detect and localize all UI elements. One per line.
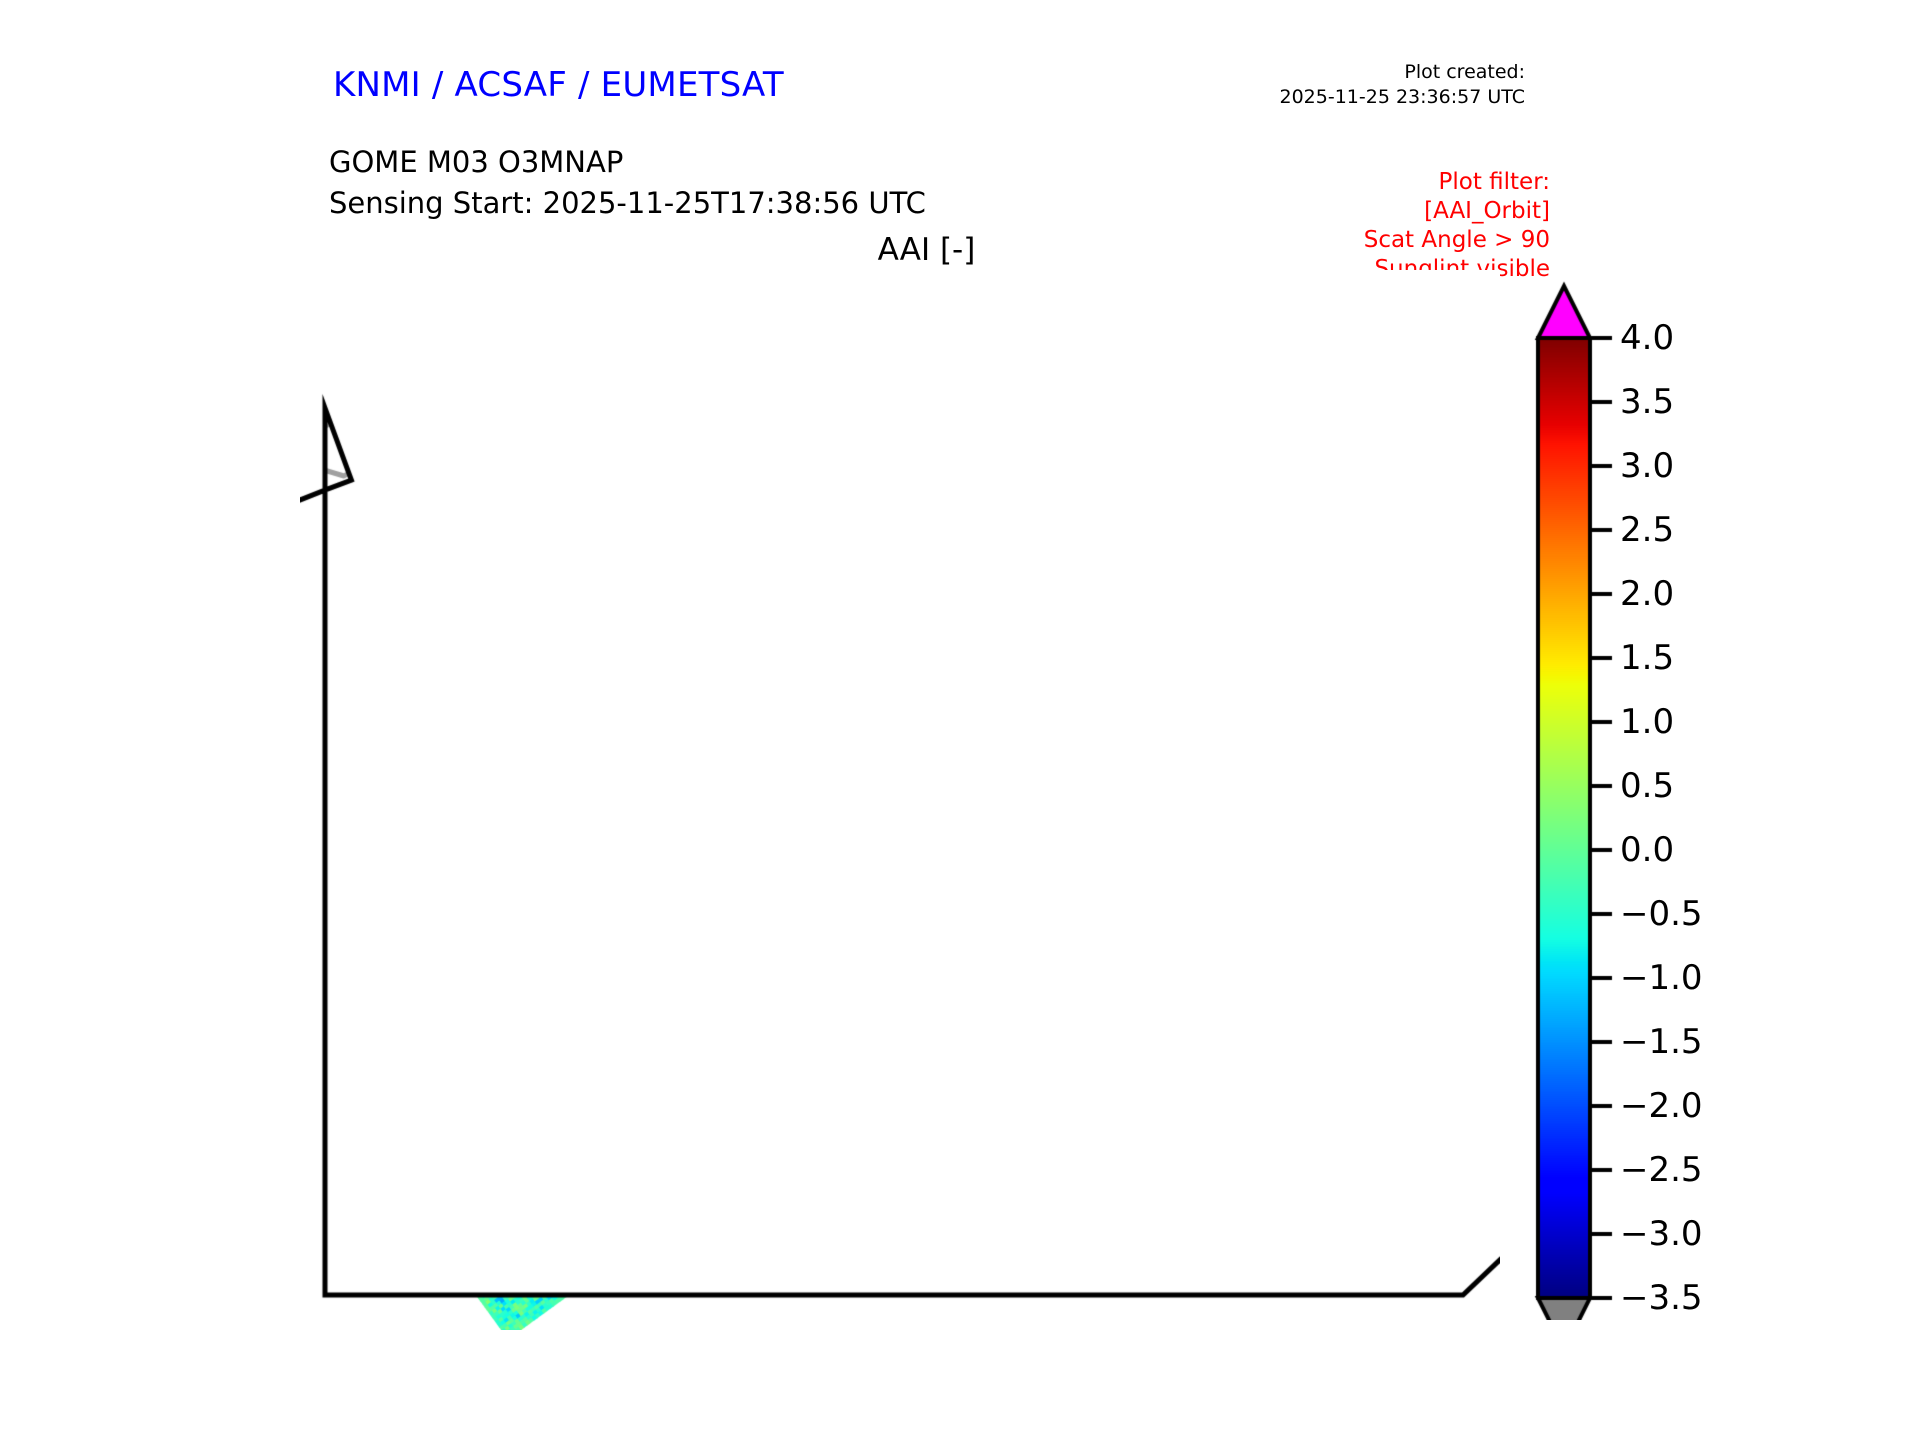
colorbar-tick-label: −2.5: [1620, 1150, 1703, 1190]
colorbar-tick-label: −2.0: [1620, 1086, 1703, 1126]
map-plot-area: [300, 270, 1500, 1330]
colorbar-tick-label: −1.5: [1620, 1022, 1703, 1062]
colorbar-tick-label: −1.0: [1620, 958, 1703, 998]
colorbar-tick-label: −3.0: [1620, 1214, 1703, 1254]
colorbar-tick-label: 3.5: [1620, 382, 1674, 422]
colorbar-tick-label: 1.0: [1620, 702, 1674, 742]
plot-created-block: Plot created: 2025-11-25 23:36:57 UTC: [1280, 60, 1526, 110]
sensing-start-label: Sensing Start: 2025-11-25T17:38:56 UTC: [329, 186, 926, 220]
colorbar-tick-label: −3.5: [1620, 1278, 1703, 1318]
organisation-title: KNMI / ACSAF / EUMETSAT: [333, 65, 784, 105]
colorbar: 4.03.53.02.52.01.51.00.50.0−0.5−1.0−1.5−…: [1530, 280, 1860, 1320]
plot-root: KNMI / ACSAF / EUMETSAT GOME M03 O3MNAP …: [0, 0, 1920, 1440]
page-title: AAI [-]: [0, 232, 1853, 268]
plot-filter-label: Plot filter:: [1364, 168, 1550, 197]
dataset-label: GOME M03 O3MNAP: [329, 145, 623, 179]
colorbar-tick-label: 4.0: [1620, 318, 1674, 358]
colorbar-tick-label: 2.0: [1620, 574, 1674, 614]
plot-filter-product: [AAI_Orbit]: [1364, 197, 1550, 226]
colorbar-tick-label: −0.5: [1620, 894, 1703, 934]
colorbar-tick-label: 0.0: [1620, 830, 1674, 870]
colorbar-tick-label: 1.5: [1620, 638, 1674, 678]
colorbar-tick-label: 3.0: [1620, 446, 1674, 486]
colorbar-tick-label: 0.5: [1620, 766, 1674, 806]
plot-filter-block: Plot filter: [AAI_Orbit] Scat Angle > 90…: [1364, 168, 1550, 284]
colorbar-tick-label: 2.5: [1620, 510, 1674, 550]
plot-created-timestamp: 2025-11-25 23:36:57 UTC: [1280, 85, 1526, 110]
plot-filter-scat-angle: Scat Angle > 90: [1364, 226, 1550, 255]
plot-created-label: Plot created:: [1280, 60, 1526, 85]
